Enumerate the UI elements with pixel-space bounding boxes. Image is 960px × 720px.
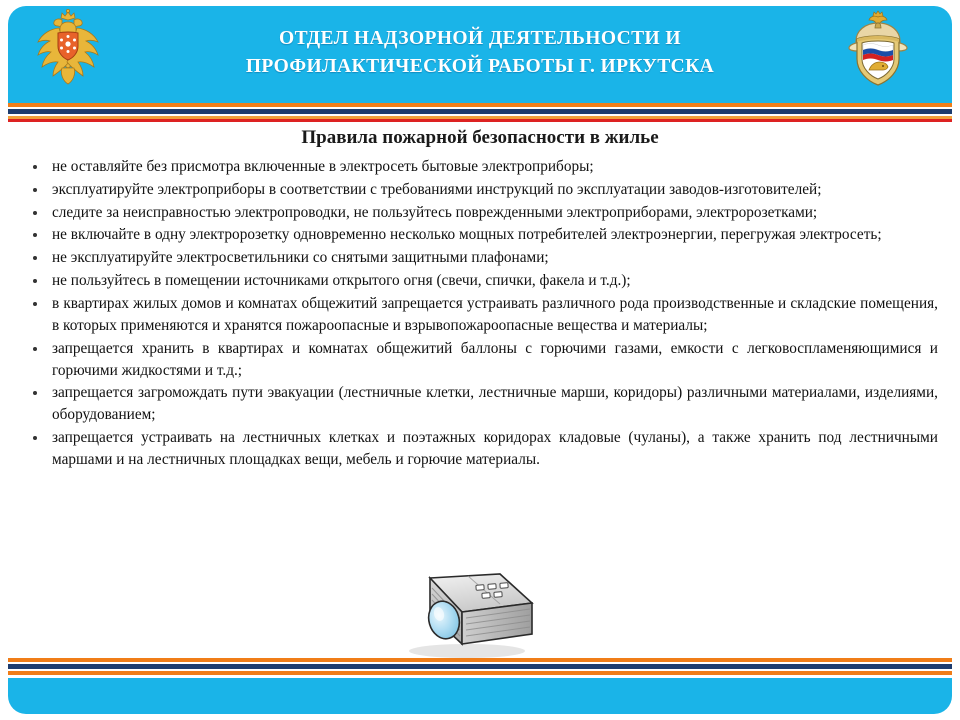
header-banner: ОТДЕЛ НАДЗОРНОЙ ДЕЯТЕЛЬНОСТИ И ПРОФИЛАКТ… [8,6,952,100]
list-item: запрещается хранить в квартирах и комнат… [26,338,938,382]
list-item: следите за неисправностью электропроводк… [26,202,938,224]
emercom-double-headed-eagle-emblem [26,8,110,88]
fire-safety-rules-list: не оставляйте без присмотра включенные в… [8,156,952,471]
list-item: запрещается устраивать на лестничных кле… [26,427,938,471]
list-item: не эксплуатируйте электросветильники со … [26,247,938,269]
list-item: не пользуйтесь в помещении источниками о… [26,270,938,292]
list-item: запрещается загромождать пути эвакуации … [26,382,938,426]
footer-banner [8,678,952,714]
stripe-red [8,119,952,122]
list-item: эксплуатируйте электроприборы в соответс… [26,179,938,201]
header-title-line-1: ОТДЕЛ НАДЗОРНОЙ ДЕЯТЕЛЬНОСТИ И [279,27,681,51]
list-item: не включайте в одну электророзетку однов… [26,224,938,246]
projector-clipart [372,568,542,660]
list-item: в квартирах жилых домов и комнатах общеж… [26,293,938,337]
content-heading: Правила пожарной безопасности в жилье [8,127,952,150]
header-title-line-2: ПРОФИЛАКТИЧЕСКОЙ РАБОТЫ Г. ИРКУТСКА [246,55,714,79]
bottom-stripe-band [8,658,952,678]
list-item: не оставляйте без присмотра включенные в… [26,156,938,178]
presentation-slide: ОТДЕЛ НАДЗОРНОЙ ДЕЯТЕЛЬНОСТИ И ПРОФИЛАКТ… [0,0,960,720]
top-stripe-band [8,100,952,122]
header-title-block: ОТДЕЛ НАДЗОРНОЙ ДЕЯТЕЛЬНОСТИ И ПРОФИЛАКТ… [138,6,822,100]
fire-service-helmet-emblem [836,8,920,88]
